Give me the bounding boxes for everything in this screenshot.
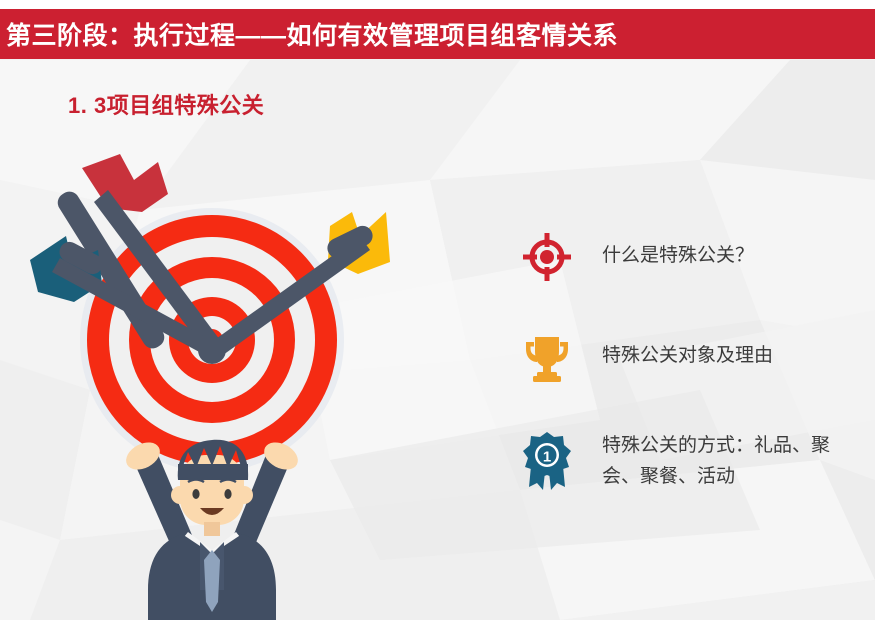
arrow-impact-point xyxy=(198,336,226,364)
slide-canvas: 第三阶段：执行过程——如何有效管理项目组客情关系 1. 3项目组特殊公关 xyxy=(0,0,875,620)
bullet-list: 什么是特殊公关？ 特殊公关对象及理由 xyxy=(518,228,868,492)
list-item-label: 特殊公关对象及理由 xyxy=(602,328,773,371)
right-eye xyxy=(224,489,231,499)
trophy-icon xyxy=(518,328,576,386)
slide-title-bar: 第三阶段：执行过程——如何有效管理项目组客情关系 xyxy=(0,9,875,59)
illustration-businessman-holding-target xyxy=(30,150,430,620)
list-item[interactable]: 什么是特殊公关？ xyxy=(518,228,868,286)
left-eye xyxy=(192,489,199,499)
list-item-label: 特殊公关的方式：礼品、聚会、聚餐、活动 xyxy=(602,428,852,492)
top-white-strip xyxy=(0,0,875,9)
businessman-figure xyxy=(121,437,302,620)
page-title: 第三阶段：执行过程——如何有效管理项目组客情关系 xyxy=(6,16,618,52)
list-item[interactable]: 特殊公关对象及理由 xyxy=(518,328,868,386)
list-item[interactable]: 1 特殊公关的方式：礼品、聚会、聚餐、活动 xyxy=(518,428,868,492)
target-crosshair-icon xyxy=(518,228,576,286)
award-ribbon-icon: 1 xyxy=(518,432,576,490)
neck xyxy=(204,522,220,536)
slide-subtitle: 1. 3项目组特殊公关 xyxy=(68,88,264,120)
list-item-label: 什么是特殊公关？ xyxy=(602,228,754,271)
badge-number: 1 xyxy=(543,449,551,466)
